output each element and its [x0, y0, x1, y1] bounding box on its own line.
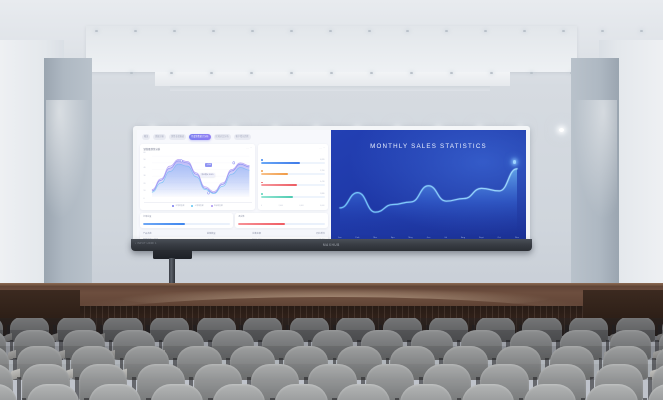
ceiling-light	[134, 30, 137, 32]
bar-dot-icon	[261, 159, 263, 161]
seat-back	[213, 384, 265, 400]
ceiling-light	[210, 72, 213, 74]
chart-end-marker	[513, 160, 516, 163]
seat-back	[89, 384, 141, 400]
chart-tooltip-primary: 1,248	[205, 163, 212, 166]
ceiling-light	[251, 30, 254, 32]
stat-label: 订单总量	[143, 215, 230, 218]
nav-tab-label: 区域对比分析	[216, 135, 229, 138]
auditorium-seat	[208, 384, 270, 400]
bar-dot-icon	[261, 170, 263, 172]
seat-back	[524, 384, 576, 400]
bar-dot-icon	[261, 193, 263, 195]
y-tick: 60	[144, 153, 146, 155]
table-column-header: 产品名称	[143, 232, 189, 235]
display-input-badge: • INPUT HDMI 1	[135, 242, 157, 245]
bar-row[interactable]: 4,820	[261, 159, 325, 164]
ceiling-light	[368, 30, 371, 32]
seat-back	[586, 384, 638, 400]
seat-back	[151, 384, 203, 400]
auditorium-seat	[581, 384, 643, 400]
stat-progress-track	[143, 223, 230, 225]
bars-x-axis: 0 2,000 4,000 6,000	[261, 204, 325, 207]
auditorium-seat	[519, 384, 581, 400]
stat-card-row: 订单总量 退货率	[140, 213, 328, 228]
y-tick: 50	[144, 160, 146, 162]
stage-lip	[0, 283, 663, 287]
stat-card-returns[interactable]: 退货率	[235, 213, 328, 228]
y-tick: 40	[144, 168, 146, 170]
x-tick: 4,000	[299, 205, 303, 207]
bar-value: 3,150	[320, 170, 324, 172]
trend-chart-plot[interactable]: 60 50 40 30 20 10 0 1,248 同比增长 18.6%	[144, 153, 252, 202]
auditorium-seat	[22, 384, 84, 400]
ceiling-soffit	[155, 72, 510, 86]
nav-tab-3-active[interactable]: 月度销售统计分析	[189, 134, 210, 139]
display-screen[interactable]: 概览 数据分析 销售业绩报表 月度销售统计分析 区域对比分析 客户增长趋势 销售…	[137, 130, 526, 246]
stat-progress-fill	[143, 223, 185, 225]
seat-back	[400, 384, 452, 400]
seat-back	[648, 384, 663, 400]
auditorium-seat	[270, 384, 332, 400]
seat-row	[0, 384, 663, 400]
y-tick: 0	[144, 199, 146, 201]
card-tools[interactable]: ⋯ ⌃	[246, 148, 251, 150]
more-icon[interactable]: ⋯	[246, 148, 248, 150]
stat-progress-track	[238, 223, 325, 225]
ceiling-light	[450, 72, 453, 74]
ceiling-light	[170, 72, 173, 74]
ceiling-light	[490, 72, 493, 74]
table-column-header: 同比增长	[280, 232, 326, 235]
legend-swatch	[211, 205, 213, 207]
auditorium-seat	[457, 384, 519, 400]
card-title: 销售额趋势分析	[144, 147, 161, 151]
bar-value: 4,820	[320, 159, 324, 161]
nav-tab-5[interactable]: 客户增长趋势	[234, 134, 251, 139]
legend-item-1[interactable]: 上期销售额	[191, 204, 203, 207]
ceiling-light	[290, 30, 293, 32]
ceiling-light	[95, 30, 98, 32]
nav-tab-4[interactable]: 区域对比分析	[214, 134, 231, 139]
ceiling-light	[410, 72, 413, 74]
sales-chart-panel[interactable]: MONTHLY SALES STATISTICS JanFebMarAprMay…	[331, 130, 526, 246]
ceiling-light	[329, 30, 332, 32]
bar-fill	[261, 196, 293, 198]
seat-back	[462, 384, 514, 400]
bar-track	[261, 196, 325, 198]
ceiling-light	[640, 30, 643, 32]
bar-row[interactable]: 4,410	[261, 181, 325, 186]
legend-swatch	[191, 205, 193, 207]
bar-track	[261, 162, 325, 164]
bar-row[interactable]: 3,150	[261, 170, 325, 175]
ceiling-light	[370, 72, 373, 74]
card-tools[interactable]: ⋯ ⌃	[319, 148, 324, 150]
ceiling-light	[173, 30, 176, 32]
seat-back	[27, 384, 79, 400]
nav-tab-label: 概览	[144, 135, 148, 138]
bar-row-header: 3,880	[261, 193, 325, 195]
card-header: 销售额趋势分析 ⋯ ⌃	[144, 147, 252, 152]
bar-value: 3,880	[320, 193, 324, 195]
nav-tab-label: 销售业绩报表	[171, 135, 184, 138]
x-tick: 0	[261, 205, 262, 207]
ceiling-light	[250, 72, 253, 74]
nav-tab-label: 客户增长趋势	[236, 135, 249, 138]
ceiling-beam	[170, 86, 490, 91]
legend-swatch	[172, 205, 174, 207]
y-tick: 20	[144, 184, 146, 186]
collapse-icon[interactable]: ⌃	[323, 148, 325, 150]
legend-label: 本期销售额	[175, 204, 184, 207]
bar-row[interactable]: 3,880	[261, 193, 325, 198]
y-axis-ticks: 60 50 40 30 20 10 0	[144, 153, 146, 202]
auditorium-seat	[84, 384, 146, 400]
seat-back	[275, 384, 327, 400]
side-wall-left-glow	[46, 100, 90, 220]
ceiling-light	[530, 72, 533, 74]
stat-label: 退货率	[238, 215, 325, 218]
bar-value: 4,410	[320, 181, 324, 183]
auditorium-scene: 概览 数据分析 销售业绩报表 月度销售统计分析 区域对比分析 客户增长趋势 销售…	[0, 0, 663, 400]
auditorium-seat	[395, 384, 457, 400]
x-tick: 2,000	[279, 205, 283, 207]
legend-label: 上期销售额	[195, 204, 204, 207]
collapse-icon[interactable]: ⌃	[250, 148, 252, 150]
region-bars-list: 4,820 3,150	[261, 152, 325, 205]
auditorium-seat	[643, 384, 663, 400]
chart-tooltip-secondary: 同比增长 18.6%	[200, 173, 216, 177]
trend-chart-svg	[144, 153, 252, 202]
more-icon[interactable]: ⋯	[319, 148, 321, 150]
legend-item-0[interactable]: 本期销售额	[172, 204, 184, 207]
trend-chart-legend[interactable]: 本期销售额 上期销售额 目标销售额	[144, 202, 252, 207]
seat-back	[0, 384, 17, 400]
y-tick: 10	[144, 191, 146, 193]
nav-tab-label: 月度销售统计分析	[191, 135, 208, 138]
table-column-header: 销售数量	[189, 232, 235, 235]
legend-item-2[interactable]: 目标销售额	[211, 204, 223, 207]
auditorium-seat	[332, 384, 394, 400]
stat-card-orders[interactable]: 订单总量	[140, 213, 233, 228]
side-wall-right-glow	[573, 100, 617, 220]
table-column-header: 销售金额	[234, 232, 280, 235]
bar-dot-icon	[261, 182, 263, 184]
sales-area-chart-svg	[331, 130, 526, 246]
bar-fill	[261, 173, 288, 175]
bar-track	[261, 173, 325, 175]
auditorium-seating	[0, 318, 663, 400]
ceiling-light	[212, 30, 215, 32]
nav-tab-label: 数据分析	[155, 135, 164, 138]
ceiling-panel	[86, 26, 577, 72]
dashboard-card-row: 销售额趋势分析 ⋯ ⌃ 60 50 40 30	[140, 144, 328, 211]
auditorium-seat	[0, 384, 22, 400]
bar-fill	[261, 162, 300, 164]
bar-fill	[261, 184, 297, 186]
legend-label: 目标销售额	[214, 204, 223, 207]
display-brand-logo: MAXHUB	[323, 243, 340, 248]
nav-tab-0[interactable]: 概览	[142, 134, 150, 139]
nav-tab-1[interactable]: 数据分析	[153, 134, 166, 139]
region-bars-card[interactable]: ⋯ ⌃ 4,820	[258, 144, 329, 211]
bar-row-header: 4,820	[261, 159, 325, 161]
y-tick: 30	[144, 176, 146, 178]
dashboard-panel[interactable]: 概览 数据分析 销售业绩报表 月度销售统计分析 区域对比分析 客户增长趋势 销售…	[137, 130, 331, 246]
bar-row-header: 4,410	[261, 181, 325, 183]
seat-back	[337, 384, 389, 400]
bar-track	[261, 184, 325, 186]
ceiling-light	[290, 72, 293, 74]
auditorium-seat	[146, 384, 208, 400]
dashboard-navbar[interactable]: 概览 数据分析 销售业绩报表 月度销售统计分析 区域对比分析 客户增长趋势	[140, 133, 328, 141]
ceiling-light	[130, 72, 133, 74]
stat-progress-fill	[238, 223, 285, 225]
nav-tab-2[interactable]: 销售业绩报表	[169, 134, 186, 139]
ceiling-light	[330, 72, 333, 74]
bar-row-header: 3,150	[261, 170, 325, 172]
video-wall-display[interactable]: 概览 数据分析 销售业绩报表 月度销售统计分析 区域对比分析 客户增长趋势 销售…	[133, 126, 530, 248]
x-tick: 6,000	[320, 205, 324, 207]
trend-chart-card[interactable]: 销售额趋势分析 ⋯ ⌃ 60 50 40 30	[140, 144, 255, 211]
